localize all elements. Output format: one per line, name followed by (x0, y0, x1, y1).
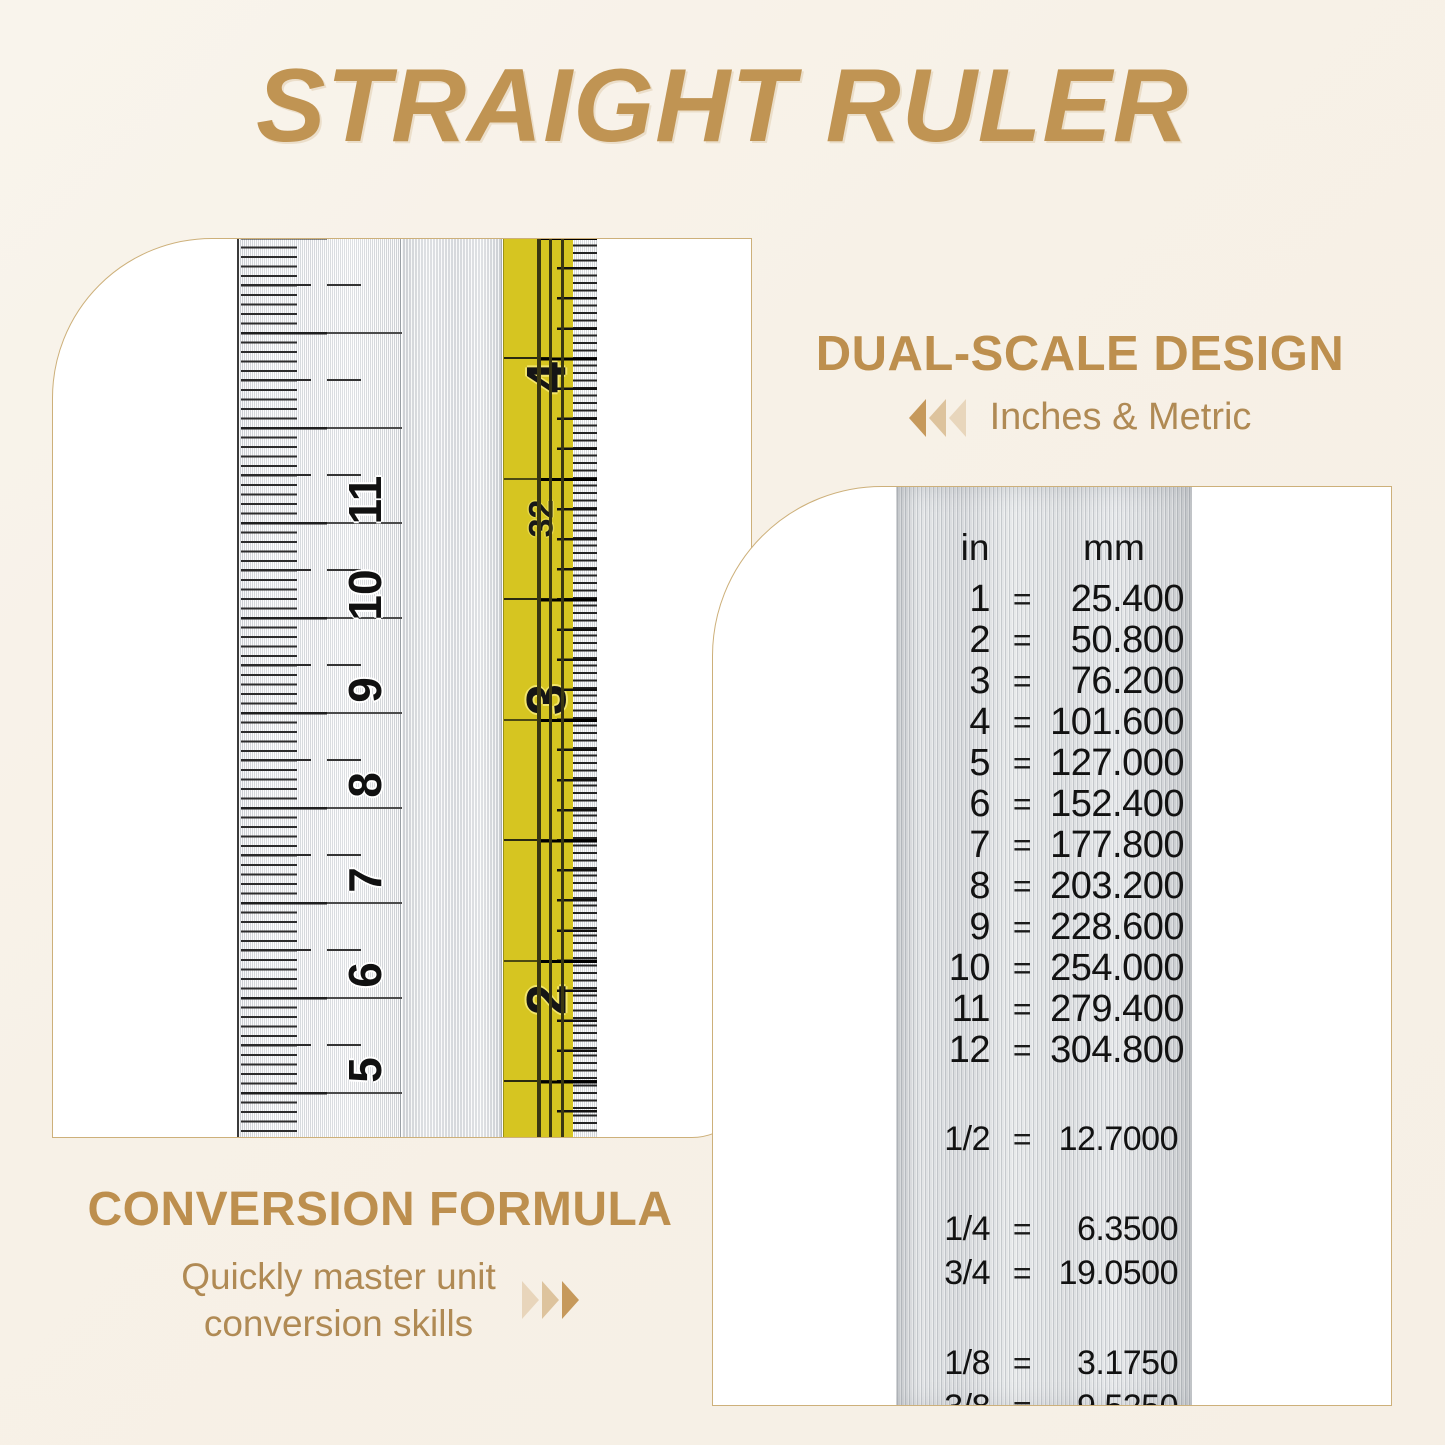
table-row: 3/8 = 9.5250 (896, 1385, 1192, 1406)
cell-equals: = (996, 581, 1048, 618)
metric-number: 7 (338, 846, 392, 914)
cell-millimeters: 19.0500 (1048, 1254, 1192, 1293)
cell-equals: = (996, 1345, 1048, 1382)
column-header-millimeters: mm (1054, 527, 1174, 569)
cell-inches: 7 (896, 824, 996, 867)
cell-inches: 4 (896, 701, 996, 744)
chevron-left-icon (929, 399, 946, 437)
chevron-right-icon (562, 1281, 579, 1319)
chevron-left-group-icon (909, 399, 966, 437)
cell-millimeters: 101.600 (1048, 701, 1192, 744)
cell-millimeters: 127.000 (1048, 742, 1192, 785)
table-row: 1/8 = 3.1750 (896, 1341, 1192, 1385)
cell-millimeters: 152.400 (1048, 783, 1192, 826)
feature-conversion-formula: CONVERSION FORMULA Quickly master unit c… (40, 1182, 720, 1348)
cell-inches: 1/2 (896, 1120, 996, 1159)
table-row: 5 = 127.000 (896, 743, 1192, 784)
cell-equals: = (996, 745, 1048, 782)
cell-millimeters: 76.200 (1048, 660, 1192, 703)
cell-millimeters: 304.800 (1048, 1029, 1192, 1072)
cell-equals: = (996, 1211, 1048, 1248)
feature-dual-scale-subline: Inches & Metric (760, 396, 1400, 439)
cell-millimeters: 25.400 (1048, 578, 1192, 621)
cell-equals: = (996, 1121, 1048, 1158)
tape-rail-line-3 (561, 238, 564, 1138)
cell-inches: 10 (896, 947, 996, 990)
table-row: 1/4 = 6.3500 (896, 1207, 1192, 1251)
page-title: STRAIGHT RULER (0, 52, 1445, 161)
cell-millimeters: 3.1750 (1048, 1344, 1192, 1383)
cell-equals: = (996, 622, 1048, 659)
metric-scale-strip: 11 10 9 8 7 6 5 4 (237, 238, 401, 1138)
cell-inches: 3 (896, 660, 996, 703)
table-row: 4 = 101.600 (896, 702, 1192, 743)
cell-equals: = (996, 704, 1048, 741)
cell-inches: 11 (896, 988, 996, 1031)
chevron-right-icon (542, 1281, 559, 1319)
feature-dual-scale-subheading: Inches & Metric (990, 396, 1252, 439)
metric-number: 4 (338, 1131, 392, 1138)
chevron-left-icon (909, 399, 926, 437)
cell-inches: 3/8 (896, 1388, 996, 1407)
column-header-inches: in (932, 527, 1018, 569)
cell-inches: 6 (896, 783, 996, 826)
cell-equals: = (996, 868, 1048, 905)
chevron-left-icon (949, 399, 966, 437)
conversion-table-header: in mm (896, 527, 1192, 573)
metric-number: 9 (338, 656, 392, 724)
cell-equals: = (996, 1389, 1048, 1407)
feature-dual-scale: DUAL-SCALE DESIGN Inches & Metric (760, 326, 1400, 439)
cell-inches: 1/8 (896, 1344, 996, 1383)
metric-number: 10 (338, 561, 392, 629)
cell-equals: = (996, 827, 1048, 864)
table-row: 2 = 50.800 (896, 620, 1192, 661)
metric-number: 5 (338, 1036, 392, 1104)
chevron-right-icon (522, 1281, 539, 1319)
table-row: 11 = 279.400 (896, 989, 1192, 1030)
ruler-photo-card: 11 10 9 8 7 6 5 4 4 32 3 2 (52, 238, 752, 1138)
cell-millimeters: 254.000 (1048, 947, 1192, 990)
cell-inches: 12 (896, 1029, 996, 1072)
table-row: 8 = 203.200 (896, 866, 1192, 907)
cell-equals: = (996, 1255, 1048, 1292)
cell-equals: = (996, 663, 1048, 700)
cell-millimeters: 203.200 (1048, 865, 1192, 908)
table-row: 3/4 = 19.0500 (896, 1251, 1192, 1295)
cell-millimeters: 50.800 (1048, 619, 1192, 662)
tape-rail-line-1 (537, 238, 541, 1138)
cell-millimeters: 228.600 (1048, 906, 1192, 949)
cell-equals: = (996, 991, 1048, 1028)
table-row: 12 = 304.800 (896, 1030, 1192, 1071)
cell-millimeters: 279.400 (1048, 988, 1192, 1031)
cell-equals: = (996, 909, 1048, 946)
metal-conversion-panel: in mm 1 = 25.400 2 = 50.800 3 = 76.200 4… (896, 487, 1192, 1406)
centimeter-ticks (241, 238, 327, 1138)
cell-equals: = (996, 786, 1048, 823)
cell-equals: = (996, 1032, 1048, 1069)
table-gap (896, 1295, 1192, 1341)
cell-inches: 8 (896, 865, 996, 908)
straight-ruler-image: 11 10 9 8 7 6 5 4 4 32 3 2 (237, 238, 597, 1138)
feature-conversion-subline: Quickly master unit conversion skills (40, 1253, 720, 1348)
metric-number: 6 (338, 941, 392, 1009)
feature-conversion-heading: CONVERSION FORMULA (40, 1182, 720, 1237)
cell-inches: 1 (896, 578, 996, 621)
table-row: 7 = 177.800 (896, 825, 1192, 866)
cell-millimeters: 9.5250 (1048, 1388, 1192, 1407)
table-gap (896, 1161, 1192, 1207)
inch-whole-ticks (537, 238, 597, 1138)
cell-inches: 1/4 (896, 1210, 996, 1249)
conversion-rows: 1 = 25.400 2 = 50.800 3 = 76.200 4 = 101… (896, 579, 1192, 1406)
cell-millimeters: 177.800 (1048, 824, 1192, 867)
feature-conversion-subheading: Quickly master unit conversion skills (181, 1253, 496, 1348)
chevron-right-group-icon (522, 1281, 579, 1319)
table-gap (896, 1071, 1192, 1117)
feature-conversion-subheading-line2: conversion skills (204, 1303, 473, 1344)
feature-dual-scale-heading: DUAL-SCALE DESIGN (760, 326, 1400, 382)
metric-number: 11 (338, 466, 392, 534)
cell-millimeters: 6.3500 (1048, 1210, 1192, 1249)
ruler-body-gap (402, 238, 502, 1138)
cell-inches: 2 (896, 619, 996, 662)
table-row: 10 = 254.000 (896, 948, 1192, 989)
cell-inches: 5 (896, 742, 996, 785)
tape-rail-line-2 (549, 238, 552, 1138)
conversion-table-card: in mm 1 = 25.400 2 = 50.800 3 = 76.200 4… (712, 486, 1392, 1406)
cell-equals: = (996, 950, 1048, 987)
table-row: 9 = 228.600 (896, 907, 1192, 948)
table-row: 1/2 = 12.7000 (896, 1117, 1192, 1161)
table-row: 3 = 76.200 (896, 661, 1192, 702)
table-row: 6 = 152.400 (896, 784, 1192, 825)
cell-inches: 3/4 (896, 1254, 996, 1293)
metric-number: 8 (338, 751, 392, 819)
feature-conversion-subheading-line1: Quickly master unit (181, 1256, 496, 1297)
table-row: 1 = 25.400 (896, 579, 1192, 620)
cell-millimeters: 12.7000 (1048, 1120, 1192, 1159)
cell-inches: 9 (896, 906, 996, 949)
